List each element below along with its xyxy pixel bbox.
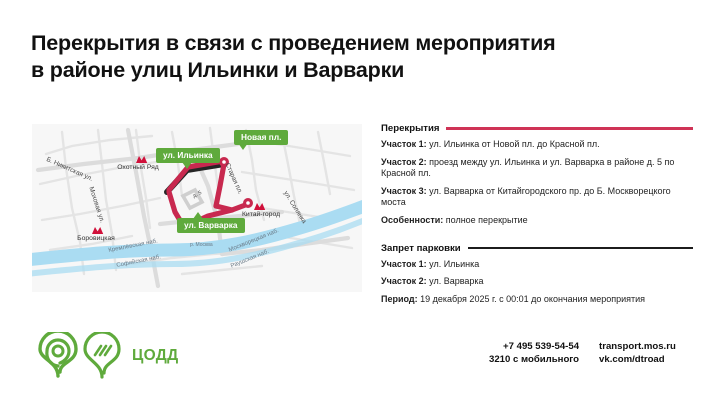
section-divider-space [381, 233, 693, 243]
parking-item-1-key: Участок 1: [381, 259, 427, 269]
info-panel: Перекрытия Участок 1: ул. Ильинка от Нов… [381, 123, 693, 305]
map-metro-kitaygorod-label: Китай-город [242, 211, 280, 218]
closures-heading: Перекрытия [381, 123, 439, 134]
codd-spiral-pin-icon [36, 332, 80, 380]
map-badge-novaya-ploshchad[interactable]: Новая пл. [234, 130, 288, 145]
parking-heading: Запрет парковки [381, 243, 461, 254]
footer-social-link[interactable]: vk.com/dtroad [599, 353, 676, 366]
codd-dash-pin-icon [80, 332, 124, 380]
map-metro-borovitskaya: Боровицкая [68, 235, 124, 243]
closure-item-1: Участок 1: ул. Ильинка от Новой пл. до К… [381, 139, 693, 151]
map-panel[interactable]: Б. Никитская ул. Моховая ул. Старая пл. … [32, 124, 362, 292]
parking-period: Период: 19 декабря 2025 г. с 00:01 до ок… [381, 294, 693, 306]
closure-item-3-key: Участок 3: [381, 186, 427, 196]
closure-item-2-key: Участок 2: [381, 157, 427, 167]
parking-rule [468, 247, 693, 250]
closure-features-value: полное перекрытие [443, 215, 527, 225]
closure-item-1-key: Участок 1: [381, 139, 427, 149]
footer-site-link[interactable]: transport.mos.ru [599, 340, 676, 353]
map-river-label: р. Москва [190, 242, 213, 248]
closure-item-features: Особенности: полное перекрытие [381, 215, 693, 227]
parking-item-2-key: Участок 2: [381, 276, 427, 286]
footer-phone-block: +7 495 539-54-54 3210 с мобильного [489, 340, 579, 366]
parking-item-2-value: ул. Варварка [427, 276, 484, 286]
map-metro-okhotny: Охотный Ряд [112, 164, 164, 172]
map-badge-ilinka[interactable]: ул. Ильинка [156, 148, 220, 163]
closure-item-2: Участок 2: проезд между ул. Ильинка и ул… [381, 157, 693, 180]
page-title-line-2: в районе улиц Ильинки и Варварки [31, 57, 691, 84]
closure-features-key: Особенности: [381, 215, 443, 225]
closures-rule [446, 127, 693, 130]
page-title-line-1: Перекрытия в связи с проведением меропри… [31, 30, 691, 57]
parking-item-1: Участок 1: ул. Ильинка [381, 259, 693, 271]
parking-section-header: Запрет парковки [381, 243, 693, 254]
map-badge-varvarka[interactable]: ул. Варварка [177, 218, 245, 233]
closures-section-header: Перекрытия [381, 123, 693, 134]
page-title: Перекрытия в связи с проведением меропри… [31, 30, 691, 84]
codd-logo[interactable]: ЦОДД [36, 332, 178, 380]
footer-contacts: +7 495 539-54-54 3210 с мобильного trans… [489, 340, 676, 366]
footer-phone-primary[interactable]: +7 495 539-54-54 [489, 340, 579, 353]
parking-item-1-value: ул. Ильинка [427, 259, 480, 269]
codd-logo-text: ЦОДД [132, 347, 178, 365]
footer-phone-mobile[interactable]: 3210 с мобильного [489, 353, 579, 366]
closure-item-1-value: ул. Ильинка от Новой пл. до Красной пл. [427, 139, 600, 149]
footer-web-block: transport.mos.ru vk.com/dtroad [599, 340, 676, 366]
map-metro-borovitskaya-label: Боровицкая [77, 235, 115, 242]
closure-item-3: Участок 3: ул. Варварка от Китайгородско… [381, 186, 693, 209]
map-metro-okhotny-label: Охотный Ряд [117, 164, 159, 171]
parking-period-key: Период: [381, 294, 418, 304]
parking-item-2: Участок 2: ул. Варварка [381, 276, 693, 288]
parking-period-value: 19 декабря 2025 г. с 00:01 до окончания … [418, 294, 645, 304]
